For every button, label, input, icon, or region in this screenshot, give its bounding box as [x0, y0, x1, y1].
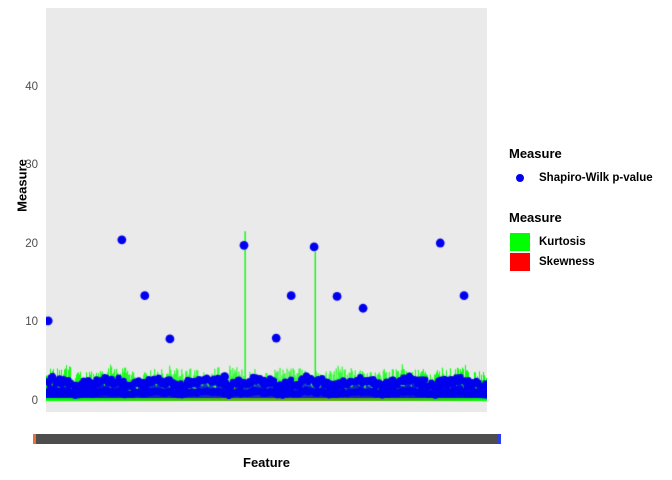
legend-label-skewness: Skewness — [539, 256, 595, 268]
legend: Measure Shapiro-Wilk p-value Measure Kur… — [509, 146, 669, 294]
skewness-swatch-icon — [509, 252, 531, 272]
y-tick-label: 40 — [4, 81, 38, 93]
x-axis-title: Feature — [46, 455, 487, 470]
chart-root: 010203040 Measure Feature Measure Shapir… — [0, 0, 672, 480]
y-tick-label: 20 — [4, 238, 38, 250]
plot-area — [46, 8, 487, 412]
kurtosis-swatch-icon — [509, 232, 531, 252]
point-marker-icon — [509, 168, 531, 188]
legend-title-point: Measure — [509, 146, 669, 161]
legend-item-skewness[interactable]: Skewness — [509, 252, 669, 272]
x-axis-tick-strip — [33, 434, 501, 444]
x-axis-strip-right-cap — [498, 434, 501, 444]
legend-label-shapiro-wilk: Shapiro-Wilk p-value — [539, 172, 653, 184]
y-tick-label: 10 — [4, 316, 38, 328]
y-axis-ticks: 010203040 — [0, 0, 46, 480]
legend-title-fill: Measure — [509, 210, 669, 225]
legend-item-kurtosis[interactable]: Kurtosis — [509, 232, 669, 252]
legend-block-point: Measure Shapiro-Wilk p-value — [509, 146, 669, 188]
plot-panel — [46, 8, 487, 412]
legend-block-fill: Measure Kurtosis Skewness — [509, 210, 669, 272]
y-tick-label: 0 — [4, 395, 38, 407]
legend-item-shapiro-wilk[interactable]: Shapiro-Wilk p-value — [509, 168, 669, 188]
x-axis-strip-left-cap — [33, 434, 36, 444]
y-axis-title: Measure — [15, 136, 30, 236]
legend-label-kurtosis: Kurtosis — [539, 236, 586, 248]
